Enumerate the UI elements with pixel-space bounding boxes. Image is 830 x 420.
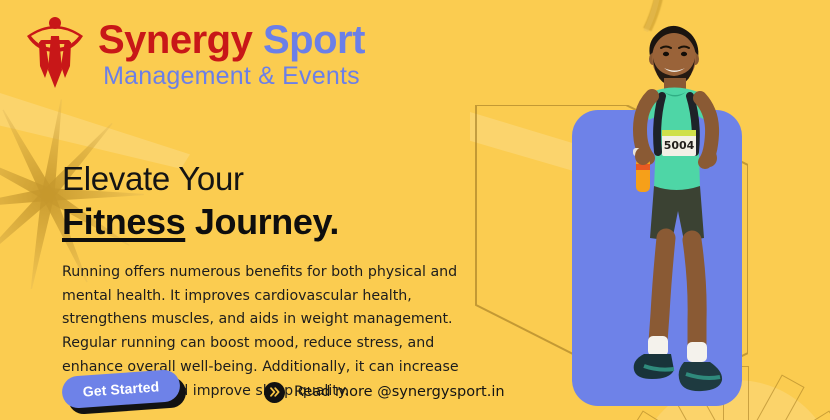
brand-logo[interactable]: Synergy Sport Management & Events (22, 14, 365, 91)
logo-title-sport: Sport (263, 18, 365, 62)
headline-line-2-rest: Journey. (195, 201, 339, 242)
read-more-link[interactable]: Read more @synergysport.in (264, 382, 505, 403)
logo-subtitle: Management & Events (98, 62, 365, 91)
cta-row: Get Started Read more @synergysport.in (62, 373, 505, 411)
get-started-button-wrapper: Get Started (62, 373, 186, 411)
running-figure-logo-icon (22, 14, 88, 88)
runner-photo: 5004 (596, 6, 746, 406)
headline-line-2: Fitness Journey. (62, 201, 339, 243)
double-chevron-right-icon (264, 382, 285, 403)
read-more-text: Read more @synergysport.in (294, 384, 505, 400)
page-title: Elevate Your Fitness Journey. (62, 160, 339, 243)
hero-banner: 5004 (0, 0, 830, 420)
headline-line-1: Elevate Your (62, 160, 339, 199)
logo-title: Synergy Sport (98, 20, 365, 61)
svg-text:5004: 5004 (664, 139, 695, 152)
logo-title-synergy: Synergy (98, 18, 252, 62)
headline-emphasis: Fitness (62, 201, 185, 242)
